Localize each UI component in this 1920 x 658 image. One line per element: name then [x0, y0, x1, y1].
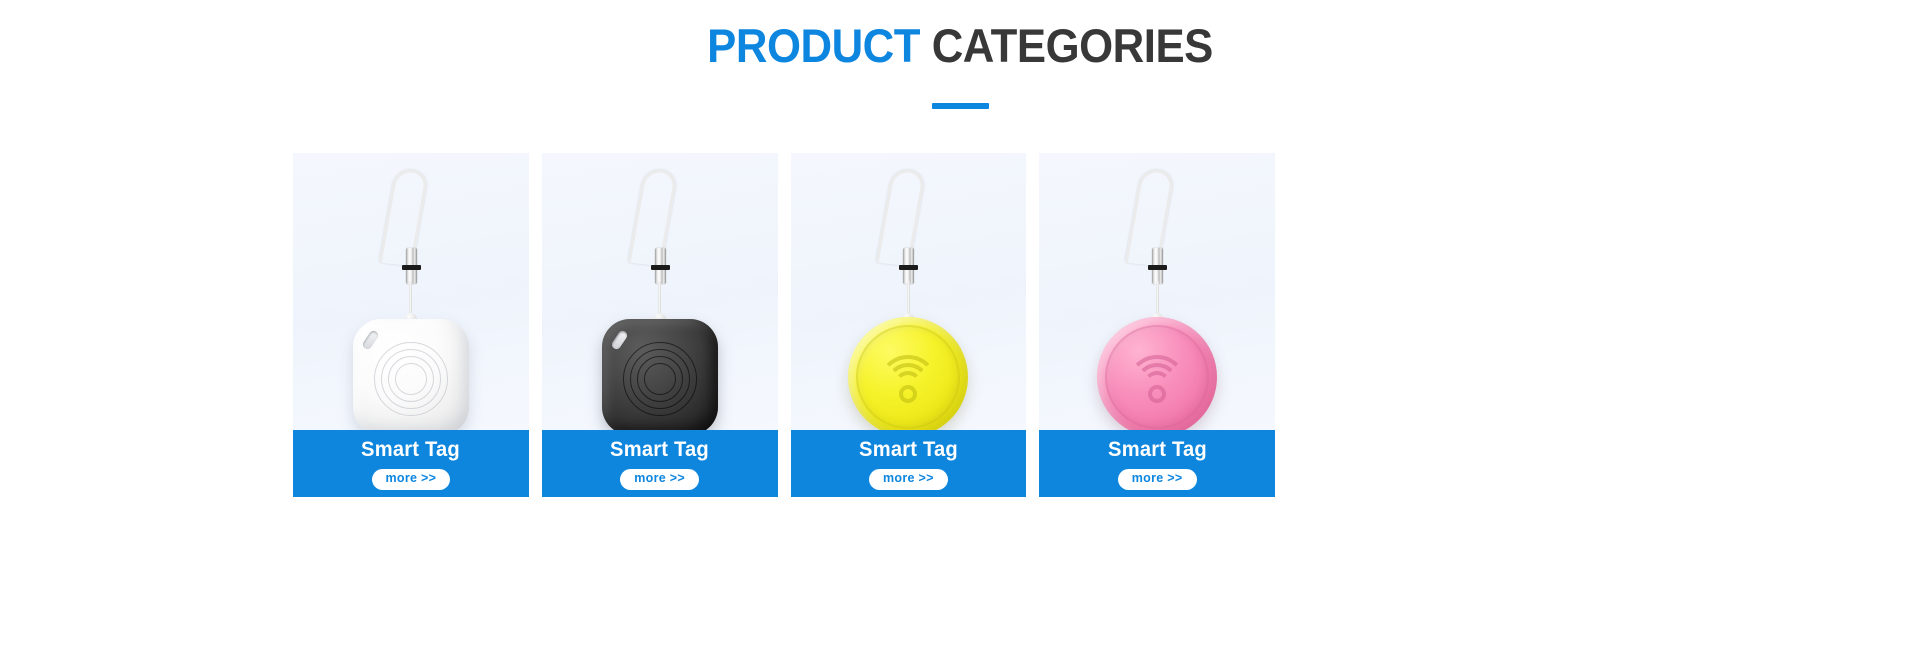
wifi-icon [1126, 355, 1188, 409]
more-button[interactable]: more >> [620, 469, 699, 490]
tag-body [848, 317, 968, 430]
product-card[interactable]: Smart Tag more >> [293, 153, 529, 497]
product-title: Smart Tag [1108, 439, 1207, 461]
tag-body [602, 319, 718, 430]
page-title: PRODUCT CATEGORIES [67, 22, 1853, 69]
product-image-area [542, 153, 778, 430]
product-card-footer: Smart Tag more >> [542, 430, 778, 497]
concentric-rings-icon [624, 343, 696, 415]
smart-tag-white-square-icon [293, 153, 529, 430]
product-card-grid: Smart Tag more >> Smart Ta [293, 153, 1275, 497]
product-card-footer: Smart Tag more >> [1039, 430, 1275, 497]
more-button[interactable]: more >> [1118, 469, 1197, 490]
product-title: Smart Tag [361, 439, 460, 461]
product-card-footer: Smart Tag more >> [791, 430, 1027, 497]
lanyard-loop-icon [379, 168, 430, 266]
product-title: Smart Tag [610, 439, 709, 461]
page-title-rest [920, 19, 932, 72]
product-card-footer: Smart Tag more >> [293, 430, 529, 497]
product-title: Smart Tag [859, 439, 958, 461]
smart-tag-yellow-round-icon [791, 153, 1027, 430]
smart-tag-pink-round-icon [1039, 153, 1275, 430]
tag-body [1097, 317, 1217, 430]
product-card[interactable]: Smart Tag more >> [542, 153, 778, 497]
wifi-icon [877, 355, 939, 409]
more-button[interactable]: more >> [372, 469, 451, 490]
product-card[interactable]: Smart Tag more >> [1039, 153, 1275, 497]
lanyard-loop-icon [876, 168, 927, 266]
lanyard-bead-ring-icon [402, 265, 421, 270]
lanyard-loop-icon [627, 168, 678, 266]
section-header: PRODUCT CATEGORIES [0, 0, 1920, 109]
product-card[interactable]: Smart Tag more >> [791, 153, 1027, 497]
product-image-area [791, 153, 1027, 430]
product-image-area [1039, 153, 1275, 430]
title-underline-bar [932, 103, 989, 109]
tag-body [353, 319, 469, 430]
lanyard-bead-ring-icon [899, 265, 918, 270]
smart-tag-black-square-icon [542, 153, 778, 430]
concentric-rings-icon [375, 343, 447, 415]
lanyard-loop-icon [1125, 168, 1176, 266]
more-button[interactable]: more >> [869, 469, 948, 490]
product-image-area [293, 153, 529, 430]
page-title-accent: PRODUCT [707, 19, 920, 72]
page-title-rest-text: CATEGORIES [932, 19, 1213, 72]
lanyard-bead-ring-icon [1148, 265, 1167, 270]
lanyard-bead-ring-icon [651, 265, 670, 270]
